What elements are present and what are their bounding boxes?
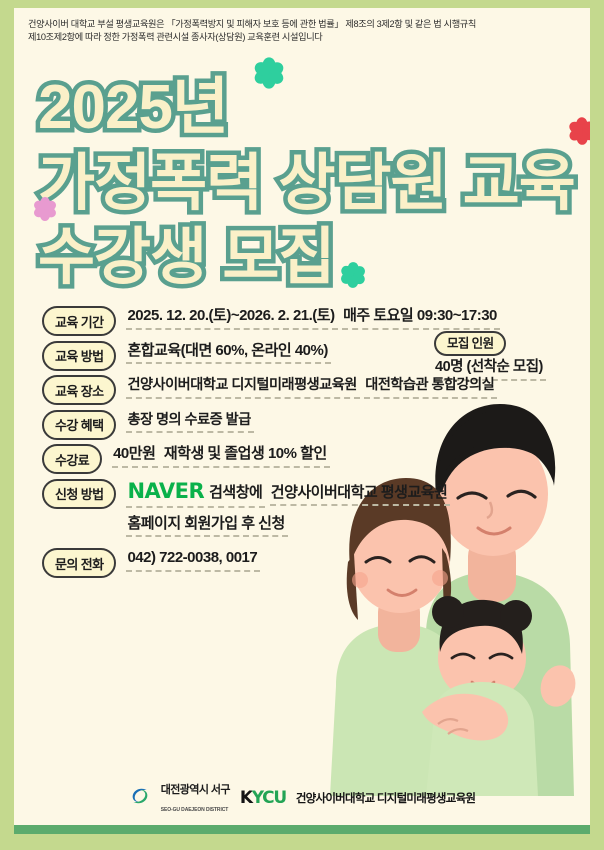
value-apply-1: 건양사이버대학교 평생교육원 — [270, 485, 451, 507]
info-row-period: 교육 기간 2025. 12. 20.(토)~2026. 2. 21.(토) 매… — [14, 306, 590, 337]
info-row-method: 교육 방법 혼합교육(대면 60%, 온라인 40%) — [14, 341, 590, 372]
legal-notice: 건양사이버 대학교 부설 평생교육원은 「가정폭력방지 및 피해자 보호 등에 … — [28, 18, 576, 44]
info-row-apply: 신청 방법 NAVER검색창에 건양사이버대학교 평생교육원 홈페이지 회원가입… — [14, 479, 590, 545]
value-benefit: 총장 명의 수료증 발급 — [126, 413, 253, 434]
label-place: 교육 장소 — [42, 375, 116, 405]
footer-logos: 대전광역시 서구 SEO-GU DAEJEON DISTRICT KYCU 건양… — [14, 780, 590, 816]
value-apply-search-suffix: 검색창에 — [209, 484, 262, 501]
value-fee-amount: 40만원 — [112, 446, 158, 468]
daejeon-swirl-icon — [129, 785, 151, 812]
value-apply-search: NAVER검색창에 — [126, 480, 265, 508]
flower-pink-left-icon — [32, 196, 58, 222]
daejeon-name-en: SEO-GU DAEJEON DISTRICT — [161, 807, 228, 813]
label-fee: 수강료 — [42, 444, 102, 474]
kycu-logo: KYCU — [240, 788, 286, 808]
kycu-k: K — [240, 788, 252, 808]
title-line-sub: 수강생 모집 — [38, 206, 590, 296]
institute-name: 건양사이버대학교 디지털미래평생교육원 — [296, 790, 475, 806]
kycu-ycu: YCU — [252, 788, 286, 808]
label-method: 교육 방법 — [42, 341, 116, 371]
info-row-phone: 문의 전화 042) 722-0038, 0017 — [14, 548, 590, 579]
info-rows: 교육 기간 2025. 12. 20.(토)~2026. 2. 21.(토) 매… — [14, 306, 590, 583]
label-period: 교육 기간 — [42, 306, 116, 336]
value-apply-2: 홈페이지 회원가입 후 신청 — [126, 516, 287, 538]
naver-logo: NAVER — [127, 479, 204, 503]
value-fee-discount: 재학생 및 졸업생 10% 할인 — [163, 446, 330, 468]
value-place-2: 대전학습관 통합강의실 — [364, 378, 497, 399]
daejeon-name-kr: 대전광역시 서구 — [161, 784, 230, 796]
legal-notice-line-2: 제10조제2항에 따라 정한 가정폭력 관련시설 종사자(상담원) 교육훈련 시… — [28, 31, 576, 44]
flower-red-right-icon — [567, 116, 590, 146]
footer-green-bar — [14, 825, 590, 834]
poster-canvas: 건양사이버 대학교 부설 평생교육원은 「가정폭력방지 및 피해자 보호 등에 … — [14, 8, 590, 834]
value-period-dates: 2025. 12. 20.(토)~2026. 2. 21.(토) — [126, 308, 337, 330]
poster-title: 2025년 가정폭력 상담원 교육 수강생 모집 — [14, 54, 590, 284]
info-row-place: 교육 장소 건양사이버대학교 디지털미래평생교육원 대전학습관 통합강의실 — [14, 375, 590, 406]
flower-teal-top-icon — [252, 56, 286, 90]
value-place-1: 건양사이버대학교 디지털미래평생교육원 — [126, 378, 359, 399]
value-method: 혼합교육(대면 60%, 온라인 40%) — [126, 343, 330, 365]
value-phone: 042) 722-0038, 0017 — [126, 550, 260, 572]
value-period-time: 매주 토요일 09:30~17:30 — [342, 308, 500, 330]
flower-teal-mid-icon — [339, 261, 367, 289]
info-row-fee: 수강료 40만원 재학생 및 졸업생 10% 할인 — [14, 444, 590, 475]
label-phone: 문의 전화 — [42, 548, 116, 578]
daejeon-logo-text: 대전광역시 서구 SEO-GU DAEJEON DISTRICT — [161, 780, 230, 816]
label-apply: 신청 방법 — [42, 479, 116, 509]
label-benefit: 수강 혜택 — [42, 410, 116, 440]
legal-notice-line-1: 건양사이버 대학교 부설 평생교육원은 「가정폭력방지 및 피해자 보호 등에 … — [28, 18, 576, 31]
info-row-benefit: 수강 혜택 총장 명의 수료증 발급 — [14, 410, 590, 441]
